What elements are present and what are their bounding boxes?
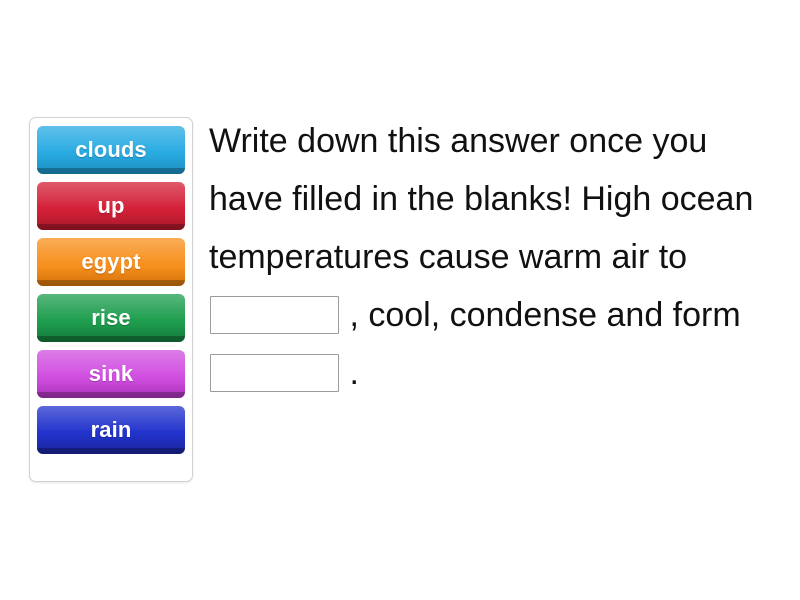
sentence-text-part: , cool, condense and form xyxy=(349,296,750,334)
word-tile-label: clouds xyxy=(75,139,147,161)
word-tile-list: clouds up egypt rise sink rain xyxy=(37,126,185,454)
blank-drop-zone-2[interactable] xyxy=(210,354,339,392)
word-bank-panel: clouds up egypt rise sink rain xyxy=(29,117,193,482)
word-tile-label: rise xyxy=(91,307,131,329)
sentence-text-part: Write down this answer once you have fil… xyxy=(209,122,763,276)
word-tile-label: rain xyxy=(91,419,132,441)
word-tile-label: sink xyxy=(89,363,133,385)
word-tile-label: egypt xyxy=(81,251,140,273)
word-tile-up[interactable]: up xyxy=(37,182,185,230)
blank-drop-zone-1[interactable] xyxy=(210,296,339,334)
word-tile-sink[interactable]: sink xyxy=(37,350,185,398)
sentence-text-part: . xyxy=(349,354,358,392)
word-tile-egypt[interactable]: egypt xyxy=(37,238,185,286)
word-tile-rise[interactable]: rise xyxy=(37,294,185,342)
word-tile-rain[interactable]: rain xyxy=(37,406,185,454)
question-sentence: Write down this answer once you have fil… xyxy=(209,112,769,402)
activity-stage: clouds up egypt rise sink rain Write dow… xyxy=(0,0,800,600)
word-tile-label: up xyxy=(97,195,124,217)
word-tile-clouds[interactable]: clouds xyxy=(37,126,185,174)
